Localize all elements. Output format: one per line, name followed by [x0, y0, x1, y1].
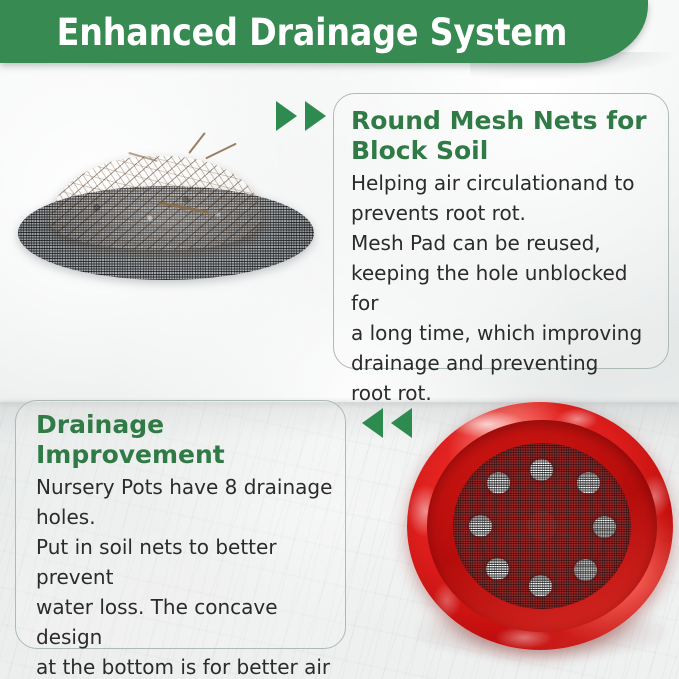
drainage-hole	[469, 515, 492, 537]
card-mesh-nets-body: Helping air circulationand to prevents r…	[351, 168, 656, 408]
soil-pile-graphic	[50, 156, 262, 250]
drainage-hole	[529, 575, 552, 597]
arrows-pointing-left	[362, 408, 412, 438]
pot-base-concave-pattern	[479, 468, 605, 584]
drainage-hole	[577, 472, 600, 494]
triangle-left-icon	[362, 408, 383, 438]
triangle-right-icon	[276, 101, 297, 131]
triangle-right-icon	[305, 101, 326, 131]
card-mesh-nets-title: Round Mesh Nets for Block Soil	[351, 106, 656, 166]
drainage-hole	[487, 472, 510, 494]
card-mesh-nets: Round Mesh Nets for Block Soil Helping a…	[333, 93, 669, 369]
header-banner: Enhanced Drainage System	[0, 0, 648, 63]
triangle-left-icon	[391, 408, 412, 438]
red-nursery-pot-photo	[405, 402, 677, 664]
card-drainage-improvement-body: Nursery Pots have 8 drainage holes. Put …	[36, 472, 335, 679]
drainage-hole	[574, 559, 597, 581]
pot-base-mesh-graphic	[453, 443, 631, 609]
soil-twig-icon	[205, 143, 236, 160]
arrows-pointing-right	[276, 101, 326, 131]
page-title: Enhanced Drainage System	[31, 4, 593, 61]
drainage-hole	[486, 558, 509, 580]
card-drainage-improvement: Drainage Improvement Nursery Pots have 8…	[15, 400, 346, 649]
card-drainage-improvement-title: Drainage Improvement	[36, 410, 335, 470]
pot-rim-graphic	[407, 402, 673, 650]
mesh-pad-with-soil-photo	[8, 126, 324, 312]
drainage-hole	[530, 459, 553, 481]
infographic-page: Enhanced Drainage System Round Mesh Nets…	[0, 0, 679, 679]
soil-twig-icon	[188, 132, 206, 154]
drainage-hole	[593, 516, 616, 538]
